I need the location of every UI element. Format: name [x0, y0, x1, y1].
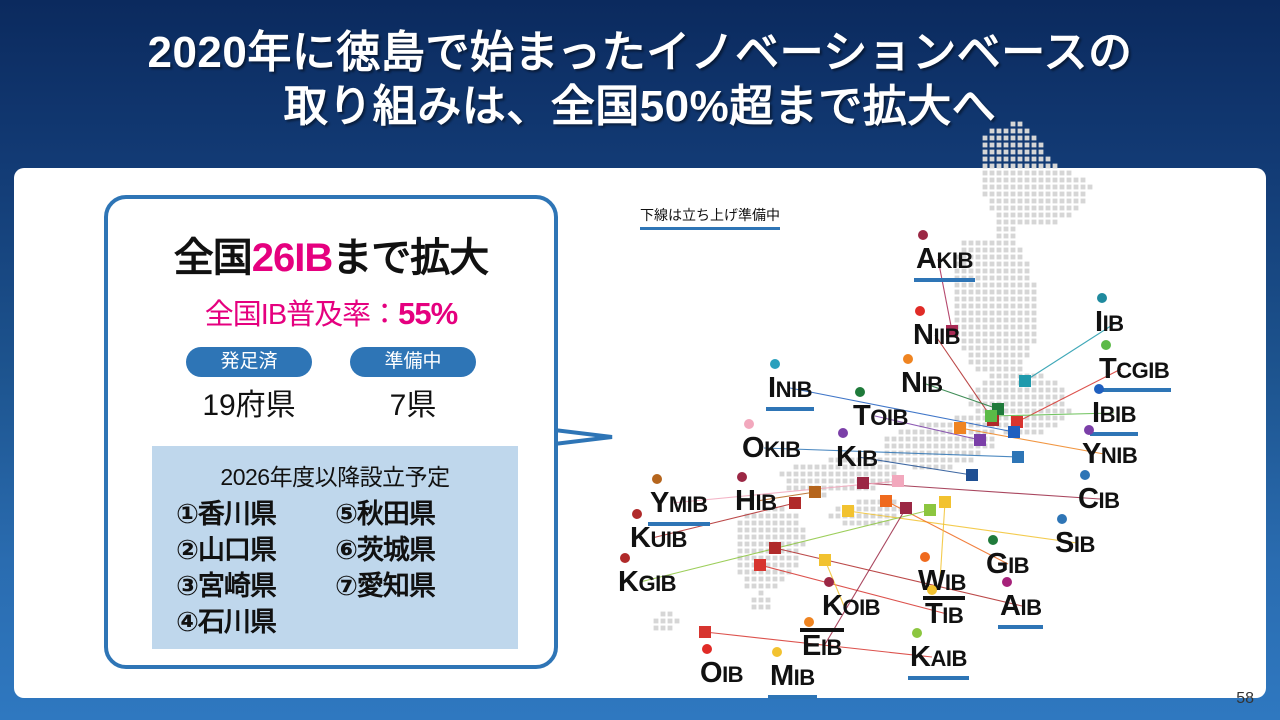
- ib-marker-dot-icon: [912, 628, 922, 638]
- future-plan-box: 2026年度以降設立予定 ①香川県⑤秋田県②山口県⑥茨城県③宮崎県⑦愛知県④石川…: [152, 446, 518, 649]
- ib-marker-dot-icon: [988, 535, 998, 545]
- penetration-rate: 全国IB普及率：55%: [108, 291, 554, 333]
- ib-label-initial: Y: [650, 487, 669, 519]
- plan-item: ⑤秋田県: [335, 496, 494, 532]
- ib-label-nib: NIB: [901, 369, 942, 398]
- ib-marker-dot-icon: [770, 359, 780, 369]
- ib-label-wib: WIB: [918, 567, 966, 596]
- ib-marker-dot-icon: [1084, 425, 1094, 435]
- headline-suffix: まで拡大: [332, 236, 488, 280]
- ib-label-rest: BIB: [1100, 402, 1136, 427]
- ib-label-rest: OIB: [842, 595, 880, 620]
- ib-label-rest: IB: [856, 446, 877, 471]
- map-marker-square: [985, 410, 997, 422]
- ib-marker-dot-icon: [772, 647, 782, 657]
- ib-label-rest: UIB: [650, 527, 686, 552]
- ib-label-initial: A: [916, 243, 936, 275]
- ib-marker-dot-icon: [632, 509, 642, 519]
- ib-label-rest: IB: [945, 570, 966, 595]
- ib-marker-dot-icon: [804, 617, 814, 627]
- ib-label-kib: KIB: [836, 443, 877, 472]
- ib-marker-dot-icon: [620, 553, 630, 563]
- ib-marker-dot-icon: [1094, 384, 1104, 394]
- plan-item: ⑥茨城県: [335, 532, 494, 568]
- ib-label-rest: IB: [755, 490, 776, 515]
- map-marker-square: [842, 505, 854, 517]
- map-marker-square: [1012, 451, 1024, 463]
- ib-label-rest: IB: [794, 665, 815, 690]
- ib-label-rest: IB: [1074, 532, 1095, 557]
- badge-group-launched: 発足済 19府県: [186, 347, 312, 424]
- map-marker-square: [1008, 426, 1020, 438]
- ib-marker-dot-icon: [915, 306, 925, 316]
- ib-marker-dot-icon: [1101, 340, 1111, 350]
- ib-label-gib: GIB: [986, 550, 1029, 579]
- ib-label-initial: M: [770, 660, 794, 692]
- headline-prefix: 全国: [174, 236, 252, 280]
- ib-label-initial: S: [1055, 527, 1074, 559]
- plan-title: 2026年度以降設立予定: [152, 458, 518, 492]
- map-legend-note: 下線は立ち上げ準備中: [640, 205, 780, 230]
- ib-label-rest: IB: [1008, 553, 1029, 578]
- ib-label-kaib: KAIB: [910, 643, 967, 672]
- ib-label-hib: HIB: [735, 487, 776, 516]
- ib-marker-dot-icon: [1080, 470, 1090, 480]
- ib-label-rest: IB: [1020, 595, 1041, 620]
- ib-marker-dot-icon: [744, 419, 754, 429]
- plan-item: [335, 604, 494, 640]
- ib-label-rest: AIB: [930, 646, 966, 671]
- ib-label-ymib: YMIB: [650, 489, 708, 518]
- ib-label-rest: IB: [722, 662, 743, 687]
- leader-line: [775, 548, 1022, 606]
- map-marker-square: [880, 495, 892, 507]
- ib-marker-dot-icon: [652, 474, 662, 484]
- ib-marker-dot-icon: [1002, 577, 1012, 587]
- map-marker-square: [769, 542, 781, 554]
- ib-label-initial: K: [822, 590, 842, 622]
- preparing-count: 7県: [350, 380, 476, 424]
- map-marker-square: [819, 554, 831, 566]
- ib-label-oib: OIB: [700, 659, 743, 688]
- ib-label-aib: AIB: [1000, 592, 1041, 621]
- ib-label-initial: A: [1000, 590, 1020, 622]
- headline-accent: 26IB: [252, 236, 333, 280]
- ib-label-initial: C: [1078, 483, 1098, 515]
- ib-marker-dot-icon: [927, 585, 937, 595]
- ib-marker-dot-icon: [920, 552, 930, 562]
- ib-label-initial: K: [630, 522, 650, 554]
- ib-label-iib: IIB: [1095, 308, 1124, 337]
- ib-label-initial: N: [901, 367, 921, 399]
- ib-label-initial: K: [618, 566, 638, 598]
- ib-label-rest: CGIB: [1116, 358, 1169, 383]
- ib-marker-dot-icon: [918, 230, 928, 240]
- ib-label-inib: INIB: [768, 374, 812, 403]
- ib-marker-dot-icon: [737, 472, 747, 482]
- rate-label: 全国IB普及率：: [205, 299, 398, 331]
- ib-label-rest: NIB: [776, 377, 812, 402]
- ib-label-rest: IB: [1098, 488, 1119, 513]
- ib-label-initial: K: [910, 641, 930, 673]
- launched-count: 19府県: [186, 380, 312, 424]
- ib-label-initial: I: [1095, 306, 1103, 338]
- leader-line: [848, 511, 1077, 543]
- summary-callout: 全国26IBまで拡大 全国IB普及率：55% 発足済 19府県 準備中 7県 2…: [104, 195, 558, 669]
- ib-label-tib: TIB: [925, 600, 963, 629]
- page-number: 58: [1236, 690, 1254, 708]
- ib-label-initial: K: [836, 441, 856, 473]
- map-marker-square: [966, 469, 978, 481]
- ib-label-ynib: YNIB: [1082, 440, 1137, 469]
- ib-label-initial: E: [802, 630, 821, 662]
- ib-label-rest: GIB: [638, 571, 676, 596]
- ib-label-rest: KIB: [936, 248, 972, 273]
- plan-item: ④石川県: [176, 604, 335, 640]
- ib-label-initial: O: [700, 657, 722, 689]
- ib-label-initial: I: [768, 372, 776, 404]
- status-badges: 発足済 19府県 準備中 7県: [108, 347, 554, 424]
- ib-label-rest: IB: [921, 372, 942, 397]
- plan-item: ②山口県: [176, 532, 335, 568]
- ib-label-initial: T: [1099, 353, 1116, 385]
- japan-map-panel: 下線は立ち上げ準備中 AKIBIIBNIIBTCGIBNIBINIBIBIBTO…: [600, 110, 1280, 710]
- ib-label-rest: OIB: [870, 405, 908, 430]
- plan-item: ③宮崎県: [176, 568, 335, 604]
- rate-value: 55%: [398, 296, 457, 331]
- ib-label-initial: I: [1092, 397, 1100, 429]
- ib-label-eib: EIB: [802, 632, 842, 661]
- ib-label-rest: IIB: [933, 324, 960, 349]
- badge-group-preparing: 準備中 7県: [350, 347, 476, 424]
- map-marker-square: [809, 486, 821, 498]
- ib-marker-dot-icon: [1097, 293, 1107, 303]
- status-badge-preparing: 準備中: [350, 347, 476, 377]
- ib-label-mib: MIB: [770, 662, 815, 691]
- ib-label-ibib: IBIB: [1092, 399, 1136, 428]
- map-marker-square: [1019, 375, 1031, 387]
- ib-marker-dot-icon: [855, 387, 865, 397]
- ib-label-initial: H: [735, 485, 755, 517]
- map-marker-square: [789, 497, 801, 509]
- ib-label-toib: TOIB: [853, 402, 908, 431]
- ib-label-tcgib: TCGIB: [1099, 355, 1169, 384]
- ib-label-rest: NIB: [1101, 443, 1137, 468]
- ib-label-rest: IB: [1103, 311, 1124, 336]
- ib-label-niib: NIIB: [913, 321, 960, 350]
- ib-marker-dot-icon: [702, 644, 712, 654]
- map-marker-square: [939, 496, 951, 508]
- ib-label-initial: G: [986, 548, 1008, 580]
- ib-label-cib: CIB: [1078, 485, 1119, 514]
- ib-label-koib: KOIB: [822, 592, 880, 621]
- ib-label-initial: Y: [1082, 438, 1101, 470]
- map-marker-square: [892, 475, 904, 487]
- map-marker-square: [954, 422, 966, 434]
- plan-item: ⑦愛知県: [335, 568, 494, 604]
- ib-label-initial: T: [853, 400, 870, 432]
- map-marker-square: [974, 434, 986, 446]
- ib-label-initial: T: [925, 598, 942, 630]
- map-marker-square: [754, 559, 766, 571]
- ib-label-okib: OKIB: [742, 434, 800, 463]
- page-title-line-1: 2020年に徳島で始まったイノベーションベースの: [147, 26, 1132, 80]
- map-marker-square: [699, 626, 711, 638]
- ib-label-akib: AKIB: [916, 245, 973, 274]
- ib-label-kuib: KUIB: [630, 524, 687, 553]
- callout-pointer: [552, 406, 618, 468]
- leader-line: [824, 508, 906, 646]
- callout-headline: 全国26IBまで拡大: [108, 225, 554, 283]
- ib-label-initial: N: [913, 319, 933, 351]
- ib-label-rest: IB: [821, 635, 842, 660]
- status-badge-launched: 発足済: [186, 347, 312, 377]
- map-marker-square: [900, 502, 912, 514]
- plan-item: ①香川県: [176, 496, 335, 532]
- map-marker-square: [924, 504, 936, 516]
- ib-label-sib: SIB: [1055, 529, 1095, 558]
- ib-label-rest: IB: [942, 603, 963, 628]
- ib-marker-dot-icon: [1057, 514, 1067, 524]
- ib-label-initial: O: [742, 432, 764, 464]
- ib-marker-dot-icon: [838, 428, 848, 438]
- ib-label-rest: MIB: [669, 492, 708, 517]
- ib-marker-dot-icon: [903, 354, 913, 364]
- map-marker-square: [857, 477, 869, 489]
- ib-label-kgib: KGIB: [618, 568, 676, 597]
- ib-marker-dot-icon: [824, 577, 834, 587]
- ib-label-rest: KIB: [764, 437, 800, 462]
- plan-item-grid: ①香川県⑤秋田県②山口県⑥茨城県③宮崎県⑦愛知県④石川県: [152, 496, 518, 640]
